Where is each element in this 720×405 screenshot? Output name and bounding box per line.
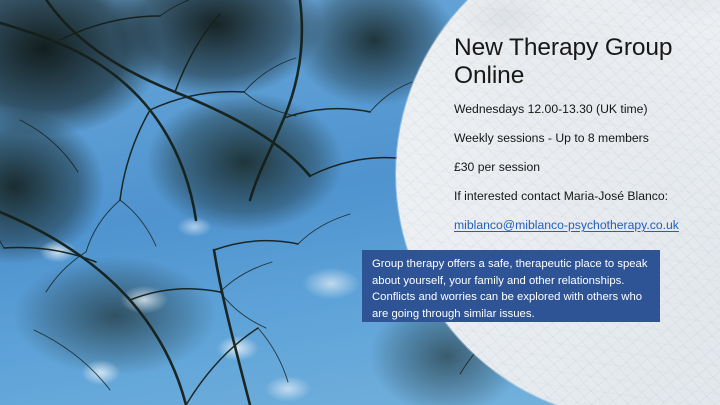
detail-schedule: Wednesdays 12.00-13.30 (UK time) (454, 102, 708, 117)
caption-box: Group therapy offers a safe, therapeutic… (362, 250, 660, 322)
slide-title: New Therapy Group Online (454, 34, 708, 89)
presentation-slide: New Therapy Group Online Wednesdays 12.0… (0, 0, 720, 405)
caption-text: Group therapy offers a safe, therapeutic… (372, 256, 650, 322)
detail-contact: If interested contact Maria-José Blanco: (454, 189, 708, 204)
detail-price: £30 per session (454, 160, 708, 175)
email-link[interactable]: miblanco@miblanco-psychotherapy.co.uk (454, 218, 679, 233)
text-column: New Therapy Group Online Wednesdays 12.0… (454, 34, 708, 276)
detail-sessions: Weekly sessions - Up to 8 members (454, 131, 708, 146)
